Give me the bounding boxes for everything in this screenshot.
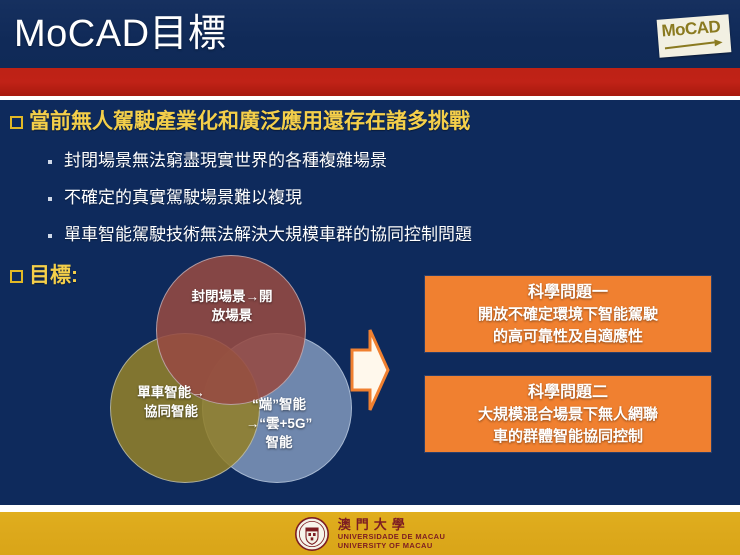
dot-bullet-icon — [48, 160, 52, 164]
challenges-heading: 當前無人駕駛產業化和廣泛應用還存在諸多挑戰 — [10, 108, 470, 136]
venn-label-right: “端”智能 →“雲+5G” 智能 — [214, 395, 344, 452]
mocad-logo: MoCAD — [657, 14, 732, 58]
venn-label-top: 封閉場景→開 放場景 — [166, 287, 298, 325]
university-name-block: 澳門大學 UNIVERSIDADE DE MACAU UNIVERSITY OF… — [338, 517, 446, 551]
university-logo: 澳門大學 UNIVERSIDADE DE MACAU UNIVERSITY OF… — [0, 512, 740, 555]
science-question-2-title: 科學問題二 — [433, 382, 703, 404]
list-item: 封閉場景無法窮盡現實世界的各種複雜場景 — [48, 148, 387, 174]
hollow-square-bullet-icon — [10, 270, 23, 283]
slide-root: MoCAD目標 MoCAD 當前無人駕駛產業化和廣泛應用還存在諸多挑戰 封閉場景… — [0, 0, 740, 555]
venn-label-right-line2: →“雲+5G” — [214, 414, 344, 433]
slide-header: MoCAD目標 MoCAD — [0, 0, 740, 68]
university-name-pt: UNIVERSIDADE DE MACAU — [338, 532, 446, 542]
science-question-1-line1: 開放不確定環境下智能駕駛 — [433, 304, 703, 326]
dot-bullet-icon — [48, 234, 52, 238]
header-red-band — [0, 68, 740, 96]
university-name-en: UNIVERSITY OF MACAU — [338, 541, 433, 551]
mocad-logo-text: MoCAD — [661, 17, 721, 42]
footer-white-divider — [0, 505, 740, 512]
science-question-box-1: 科學問題一 開放不確定環境下智能駕駛 的高可靠性及自適應性 — [424, 275, 712, 353]
science-question-2-line1: 大規模混合場景下無人網聯 — [433, 404, 703, 426]
venn-label-top-line1: 封閉場景→開 — [166, 287, 298, 306]
venn-diagram: 封閉場景→開 放場景 單車智能→ 協同智能 “端”智能 →“雲+5G” 智能 — [110, 255, 345, 500]
goal-heading: 目標: — [10, 262, 78, 290]
venn-label-top-line2: 放場景 — [166, 306, 298, 325]
science-question-2-line2: 車的群體智能協同控制 — [433, 426, 703, 448]
list-item-label: 不確定的真實駕駛場景難以複現 — [64, 185, 302, 211]
list-item: 不確定的真實駕駛場景難以複現 — [48, 185, 302, 211]
goal-heading-label: 目標: — [29, 262, 78, 290]
hollow-square-bullet-icon — [10, 116, 23, 129]
science-question-1-line2: 的高可靠性及自適應性 — [433, 326, 703, 348]
dot-bullet-icon — [48, 197, 52, 201]
list-item: 單車智能駕駛技術無法解決大規模車群的協同控制問題 — [48, 222, 472, 248]
list-item-label: 封閉場景無法窮盡現實世界的各種複雜場景 — [64, 148, 387, 174]
university-crest-icon — [295, 517, 329, 551]
science-question-1-title: 科學問題一 — [433, 282, 703, 304]
venn-label-right-line1: “端”智能 — [214, 395, 344, 414]
list-item-label: 單車智能駕駛技術無法解決大規模車群的協同控制問題 — [64, 222, 472, 248]
challenges-heading-label: 當前無人駕駛產業化和廣泛應用還存在諸多挑戰 — [29, 108, 470, 136]
page-title: MoCAD目標 — [14, 8, 227, 60]
arrow-right-icon — [664, 39, 722, 52]
venn-label-right-line3: 智能 — [214, 433, 344, 452]
science-question-box-2: 科學問題二 大規模混合場景下無人網聯 車的群體智能協同控制 — [424, 375, 712, 453]
university-name-cn: 澳門大學 — [338, 517, 410, 532]
right-arrow-icon — [350, 328, 390, 412]
